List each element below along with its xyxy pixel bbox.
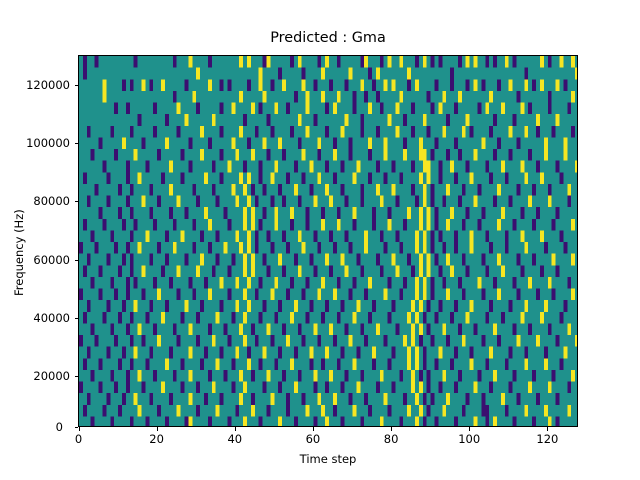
y-tick-mark-40000 — [75, 318, 79, 319]
y-tick-label-60000: 60000 — [33, 254, 70, 266]
y-tick-label-20000: 20000 — [33, 370, 70, 382]
x-axis-label: Time step — [78, 452, 578, 466]
y-tick-label-40000: 40000 — [33, 312, 70, 324]
x-tick-mark-120 — [547, 427, 548, 431]
y-tick-mark-60000 — [75, 260, 79, 261]
y-tick-mark-20000 — [75, 376, 79, 377]
x-tick-label-60: 60 — [293, 433, 333, 445]
x-tick-mark-80 — [391, 427, 392, 431]
x-tick-mark-100 — [469, 427, 470, 431]
x-tick-mark-60 — [313, 427, 314, 431]
x-tick-label-20: 20 — [137, 433, 177, 445]
x-tick-mark-0 — [79, 427, 80, 431]
matplotlib-figure: Predicted : Gma 0 20000 40000 60000 8000… — [0, 0, 640, 480]
x-tick-mark-20 — [157, 427, 158, 431]
y-axis-label: Frequency (Hz) — [12, 209, 26, 296]
x-tick-label-40: 40 — [215, 433, 255, 445]
x-tick-label-0: 0 — [59, 433, 99, 445]
y-tick-mark-80000 — [75, 201, 79, 202]
page-title: Predicted : Gma — [78, 29, 578, 47]
y-tick-mark-100000 — [75, 143, 79, 144]
x-tick-mark-40 — [235, 427, 236, 431]
x-tick-label-120: 120 — [527, 433, 567, 445]
y-tick-mark-120000 — [75, 85, 79, 86]
x-tick-label-100: 100 — [449, 433, 489, 445]
y-tick-label-120000: 120000 — [26, 79, 70, 91]
y-tick-label-0: 0 — [56, 421, 63, 433]
heatmap-canvas — [79, 56, 578, 427]
y-tick-label-100000: 100000 — [26, 137, 70, 149]
x-tick-label-80: 80 — [371, 433, 411, 445]
heatmap-axes — [78, 55, 578, 427]
y-tick-label-80000: 80000 — [33, 195, 70, 207]
y-tick-mark-0 — [75, 427, 79, 428]
